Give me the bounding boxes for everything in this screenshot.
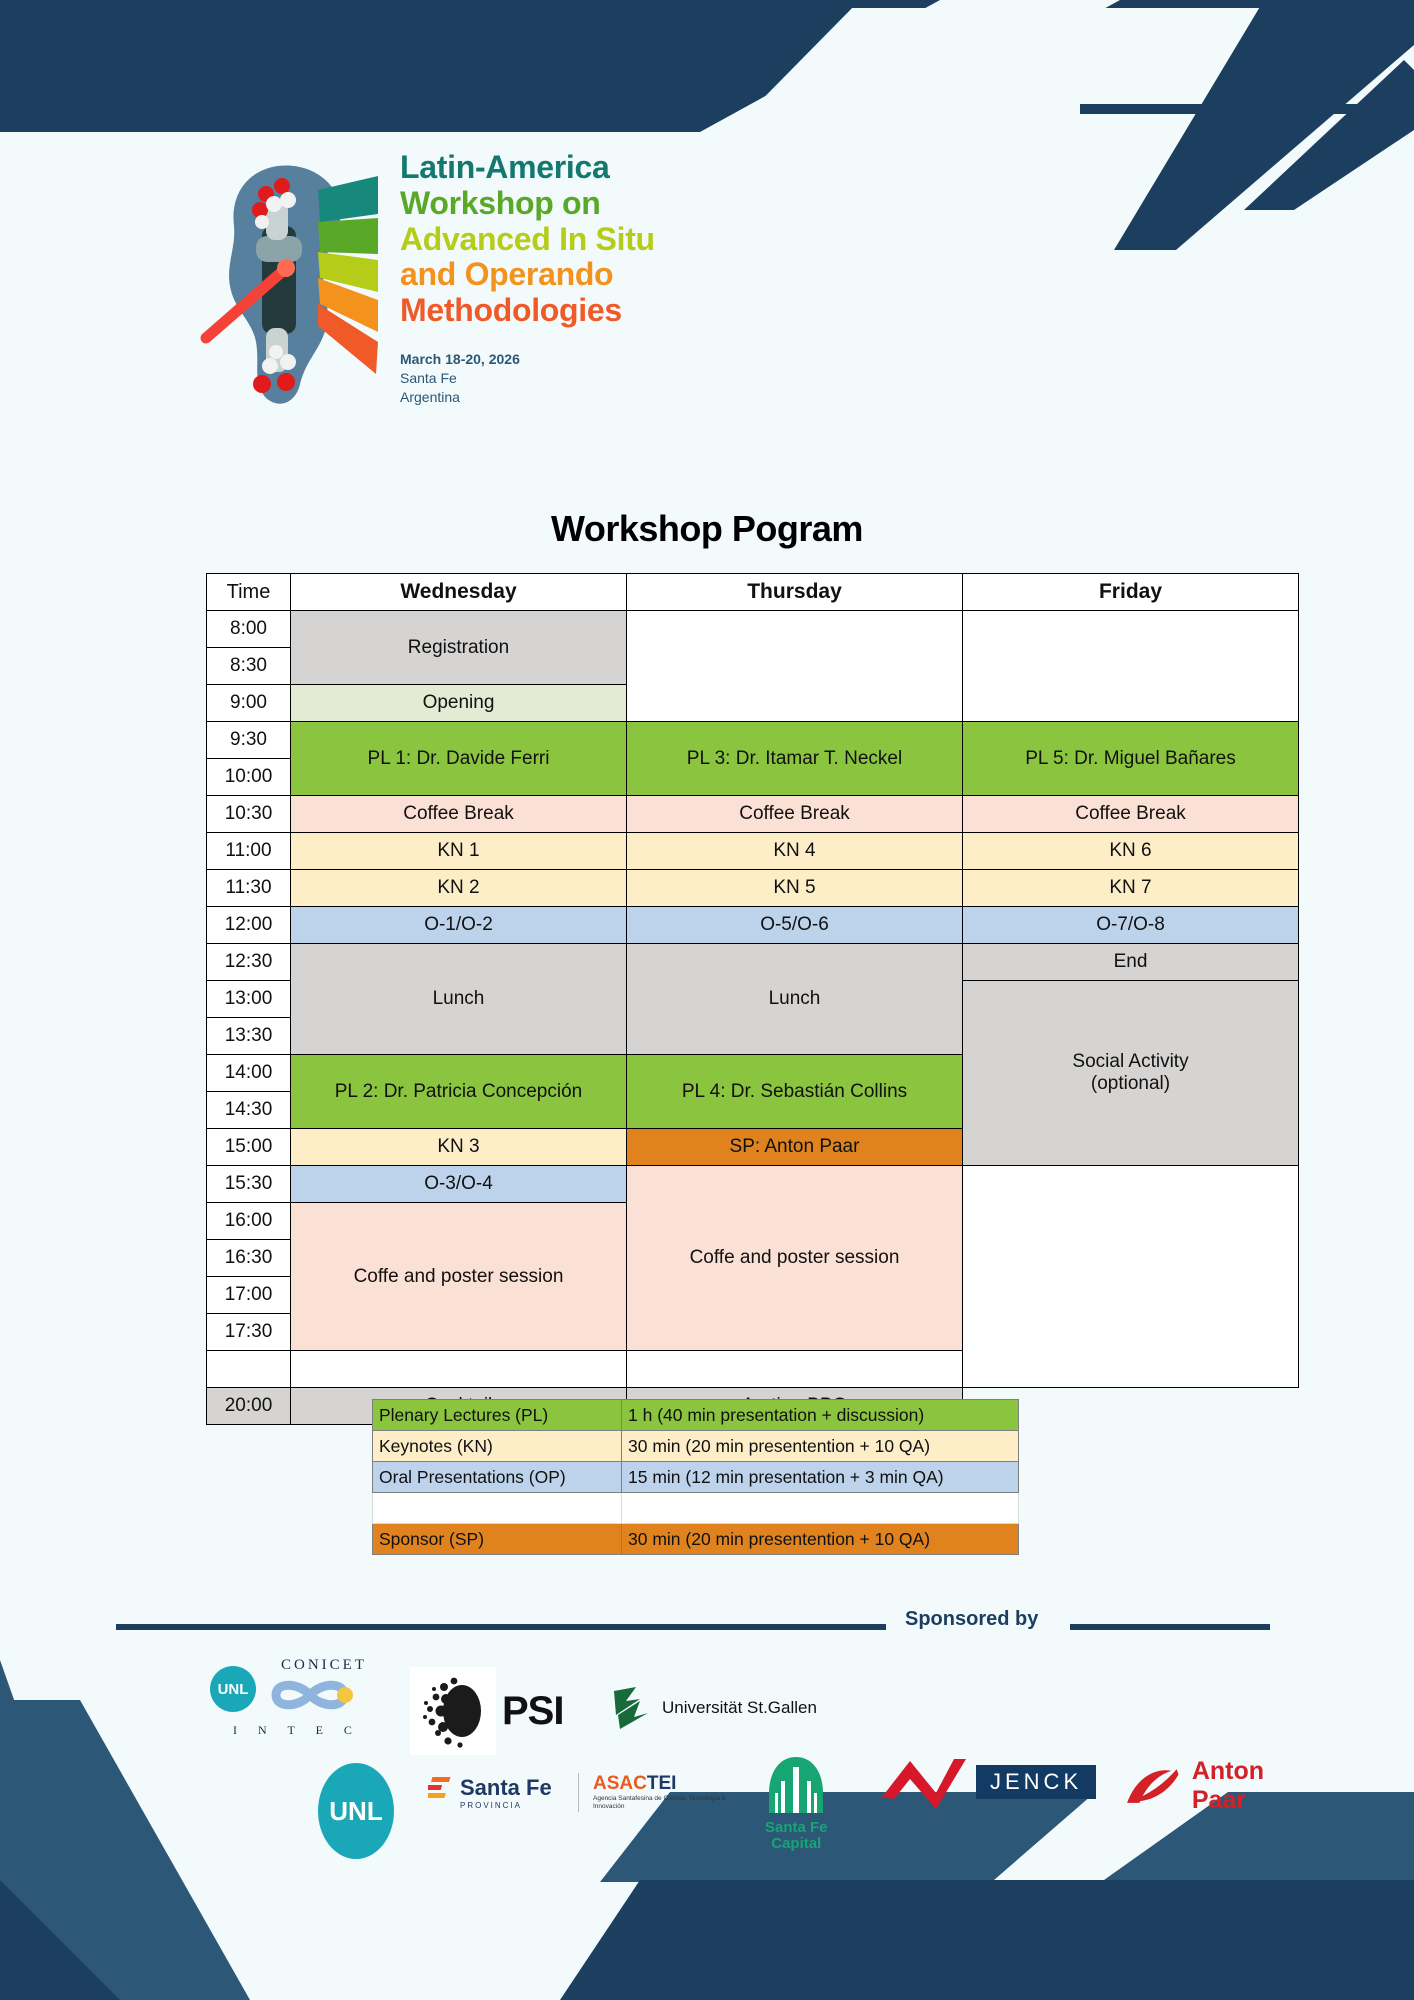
santa-fe-capital-bridge-icon xyxy=(767,1755,825,1815)
top-left-notch xyxy=(700,0,1120,132)
psi-label: PSI xyxy=(502,1689,563,1734)
cell-pl1: PL 1: Dr. Davide Ferri xyxy=(291,722,627,796)
cell-opening: Opening xyxy=(291,685,627,722)
conicet-label: CONICET xyxy=(264,1657,384,1674)
top-navy-strip xyxy=(0,0,1414,62)
time-cell: 17:30 xyxy=(207,1314,291,1351)
cell-thursday-empty-morning xyxy=(627,611,963,722)
legend-val-op: 15 min (12 min presentation + 3 min QA) xyxy=(622,1462,1019,1493)
santa-fe-bars-icon xyxy=(428,1775,454,1805)
cell-end: End xyxy=(963,944,1299,981)
time-cell: 16:00 xyxy=(207,1203,291,1240)
st-gallen-label: Universität St.Gallen xyxy=(662,1698,817,1718)
cell-lunch-wed: Lunch xyxy=(291,944,627,1055)
anton-paar-swirl-icon xyxy=(1120,1759,1184,1813)
cell-kn5: KN 5 xyxy=(627,870,963,907)
sponsor-santa-fe-capital: Santa Fe Capital xyxy=(765,1755,828,1852)
top-right-stripe-2 xyxy=(1214,0,1414,210)
legend-key-sp: Sponsor (SP) xyxy=(373,1524,622,1555)
table-row: 12:30 Lunch Lunch End xyxy=(207,944,1299,981)
legend-val-blank xyxy=(622,1493,1019,1524)
workshop-title: Latin-America Workshop on Advanced In Si… xyxy=(400,150,960,329)
unl-badge-icon: UNL xyxy=(210,1666,256,1712)
top-left-navy-block xyxy=(0,0,860,132)
santa-fe-capital-sub-label: Capital xyxy=(771,1835,821,1852)
time-cell: 10:00 xyxy=(207,759,291,796)
intec-label: I N T E C xyxy=(210,1723,384,1738)
sponsor-logos: UNL CONICET I N T E C xyxy=(110,1645,1310,1895)
table-row: 8:00 Registration xyxy=(207,611,1299,648)
legend-row-op: Oral Presentations (OP) 15 min (12 min p… xyxy=(373,1462,1019,1493)
cell-o56: O-5/O-6 xyxy=(627,907,963,944)
cell-poster-wed: Coffe and poster session xyxy=(291,1203,627,1351)
sponsored-by-label: Sponsored by xyxy=(905,1608,1038,1631)
sponsor-conicet-intec: UNL CONICET I N T E C xyxy=(210,1657,384,1738)
cell-kn7: KN 7 xyxy=(963,870,1299,907)
sponsor-psi: PSI xyxy=(410,1667,563,1755)
time-cell: 10:30 xyxy=(207,796,291,833)
cell-kn3: KN 3 xyxy=(291,1129,627,1166)
col-header-wednesday: Wednesday xyxy=(291,574,627,611)
title-line-3: Advanced In Situ xyxy=(400,222,960,258)
sponsor-santa-fe-provincia: Santa Fe PROVINCIA xyxy=(428,1775,552,1810)
cell-o12: O-1/O-2 xyxy=(291,907,627,944)
cell-kn1: KN 1 xyxy=(291,833,627,870)
cell-registration: Registration xyxy=(291,611,627,685)
col-header-time: Time xyxy=(207,574,291,611)
event-meta: March 18-20, 2026 Santa Fe Argentina xyxy=(400,350,520,407)
page-title: Workshop Pogram xyxy=(0,508,1414,550)
time-cell: 9:30 xyxy=(207,722,291,759)
jenck-chevron-icon xyxy=(880,1753,976,1811)
legend-row-pl: Plenary Lectures (PL) 1 h (40 min presen… xyxy=(373,1400,1019,1431)
legend-key-pl: Plenary Lectures (PL) xyxy=(373,1400,622,1431)
sponsor-unl: UNL xyxy=(318,1763,394,1859)
time-cell: 15:30 xyxy=(207,1166,291,1203)
cell-pl3: PL 3: Dr. Itamar T. Neckel xyxy=(627,722,963,796)
time-cell: 14:30 xyxy=(207,1092,291,1129)
st-gallen-mark-icon xyxy=(610,1685,654,1731)
time-cell: 8:30 xyxy=(207,648,291,685)
cell-pl5: PL 5: Dr. Miguel Bañares xyxy=(963,722,1299,796)
cell-pl4: PL 4: Dr. Sebastián Collins xyxy=(627,1055,963,1129)
santa-fe-capital-label: Santa Fe xyxy=(765,1819,828,1836)
legend-key-kn: Keynotes (KN) xyxy=(373,1431,622,1462)
sponsor-anton-paar: Anton Paar xyxy=(1120,1757,1310,1815)
cell-blank-wed xyxy=(291,1351,627,1388)
table-row: 11:00 KN 1 KN 4 KN 6 xyxy=(207,833,1299,870)
anton-paar-label: Anton Paar xyxy=(1192,1757,1310,1815)
asactei-label-a: ASAC xyxy=(593,1773,647,1794)
event-city: Santa Fe xyxy=(400,369,520,388)
event-header: Latin-America Workshop on Advanced In Si… xyxy=(200,150,960,410)
psi-dots-icon xyxy=(410,1667,496,1755)
jenck-label: JENCK xyxy=(976,1765,1096,1799)
cell-friday-empty-afternoon xyxy=(963,1166,1299,1388)
col-header-thursday: Thursday xyxy=(627,574,963,611)
time-cell-blank xyxy=(207,1351,291,1388)
table-row: 9:30 PL 1: Dr. Davide Ferri PL 3: Dr. It… xyxy=(207,722,1299,759)
schedule-table: Time Wednesday Thursday Friday 8:00 Regi… xyxy=(206,573,1299,1425)
sponsor-asactei: ASACTEI Agencia Santafesina de Ciencia, … xyxy=(578,1773,743,1812)
cell-coffee-fri: Coffee Break xyxy=(963,796,1299,833)
cell-kn6: KN 6 xyxy=(963,833,1299,870)
legend-row-blank xyxy=(373,1493,1019,1524)
time-cell: 12:00 xyxy=(207,907,291,944)
time-cell: 14:00 xyxy=(207,1055,291,1092)
cell-blank-thu xyxy=(627,1351,963,1388)
unl-large-badge-icon: UNL xyxy=(318,1763,394,1859)
title-line-1: Latin-America xyxy=(400,150,960,186)
table-row: 11:30 KN 2 KN 5 KN 7 xyxy=(207,870,1299,907)
title-line-2: Workshop on xyxy=(400,186,960,222)
bottom-left-corner xyxy=(0,1880,210,2000)
time-cell: 9:00 xyxy=(207,685,291,722)
cell-o78: O-7/O-8 xyxy=(963,907,1299,944)
cell-kn2: KN 2 xyxy=(291,870,627,907)
legend-val-sp: 30 min (20 min presentention + 10 QA) xyxy=(622,1524,1019,1555)
cell-pl2: PL 2: Dr. Patricia Concepción xyxy=(291,1055,627,1129)
time-cell: 11:00 xyxy=(207,833,291,870)
cell-o34: O-3/O-4 xyxy=(291,1166,627,1203)
time-cell: 13:00 xyxy=(207,981,291,1018)
time-cell: 20:00 xyxy=(207,1388,291,1425)
legend-table: Plenary Lectures (PL) 1 h (40 min presen… xyxy=(372,1399,1019,1555)
bottom-band-navy xyxy=(0,1880,1414,2000)
event-country: Argentina xyxy=(400,388,520,407)
col-header-friday: Friday xyxy=(963,574,1299,611)
conicet-infinity-icon xyxy=(264,1674,384,1716)
top-right-rule xyxy=(0,104,1414,114)
time-cell: 16:30 xyxy=(207,1240,291,1277)
title-line-4: and Operando xyxy=(400,257,960,293)
event-date: March 18-20, 2026 xyxy=(400,350,520,369)
santa-fe-label: Santa Fe xyxy=(460,1775,552,1801)
cell-social-activity: Social Activity (optional) xyxy=(963,981,1299,1166)
workshop-logo-icon xyxy=(200,160,385,410)
cell-lunch-thu: Lunch xyxy=(627,944,963,1055)
cell-coffee-wed: Coffee Break xyxy=(291,796,627,833)
cell-kn4: KN 4 xyxy=(627,833,963,870)
title-line-5: Methodologies xyxy=(400,293,960,329)
sponsor-jenck: JENCK xyxy=(880,1753,1096,1811)
legend-key-blank xyxy=(373,1493,622,1524)
legend-row-kn: Keynotes (KN) 30 min (20 min presententi… xyxy=(373,1431,1019,1462)
table-header-row: Time Wednesday Thursday Friday xyxy=(207,574,1299,611)
time-cell: 11:30 xyxy=(207,870,291,907)
time-cell: 8:00 xyxy=(207,611,291,648)
legend-row-sp: Sponsor (SP) 30 min (20 min presententio… xyxy=(373,1524,1019,1555)
legend-key-op: Oral Presentations (OP) xyxy=(373,1462,622,1493)
asactei-label-b: TEI xyxy=(647,1773,677,1794)
time-cell: 13:30 xyxy=(207,1018,291,1055)
cell-poster-thu: Coffe and poster session xyxy=(627,1166,963,1351)
asactei-sub-label: Agencia Santafesina de Ciencia, Tecnolog… xyxy=(593,1795,743,1812)
time-cell: 12:30 xyxy=(207,944,291,981)
legend-val-kn: 30 min (20 min presentention + 10 QA) xyxy=(622,1431,1019,1462)
santa-fe-sub-label: PROVINCIA xyxy=(460,1801,552,1810)
cell-coffee-thu: Coffee Break xyxy=(627,796,963,833)
table-row: 15:30 O-3/O-4 Coffe and poster session xyxy=(207,1166,1299,1203)
time-cell: 17:00 xyxy=(207,1277,291,1314)
sponsor-rule-left xyxy=(116,1624,886,1630)
table-row: 10:30 Coffee Break Coffee Break Coffee B… xyxy=(207,796,1299,833)
table-row: 12:00 O-1/O-2 O-5/O-6 O-7/O-8 xyxy=(207,907,1299,944)
top-right-stripe-1 xyxy=(1114,0,1414,250)
time-cell: 15:00 xyxy=(207,1129,291,1166)
cell-friday-empty-morning xyxy=(963,611,1299,722)
sponsor-rule-right xyxy=(1070,1624,1270,1630)
cell-sp-anton-paar: SP: Anton Paar xyxy=(627,1129,963,1166)
sponsor-st-gallen: Universität St.Gallen xyxy=(610,1685,817,1731)
legend-val-pl: 1 h (40 min presentation + discussion) xyxy=(622,1400,1019,1431)
